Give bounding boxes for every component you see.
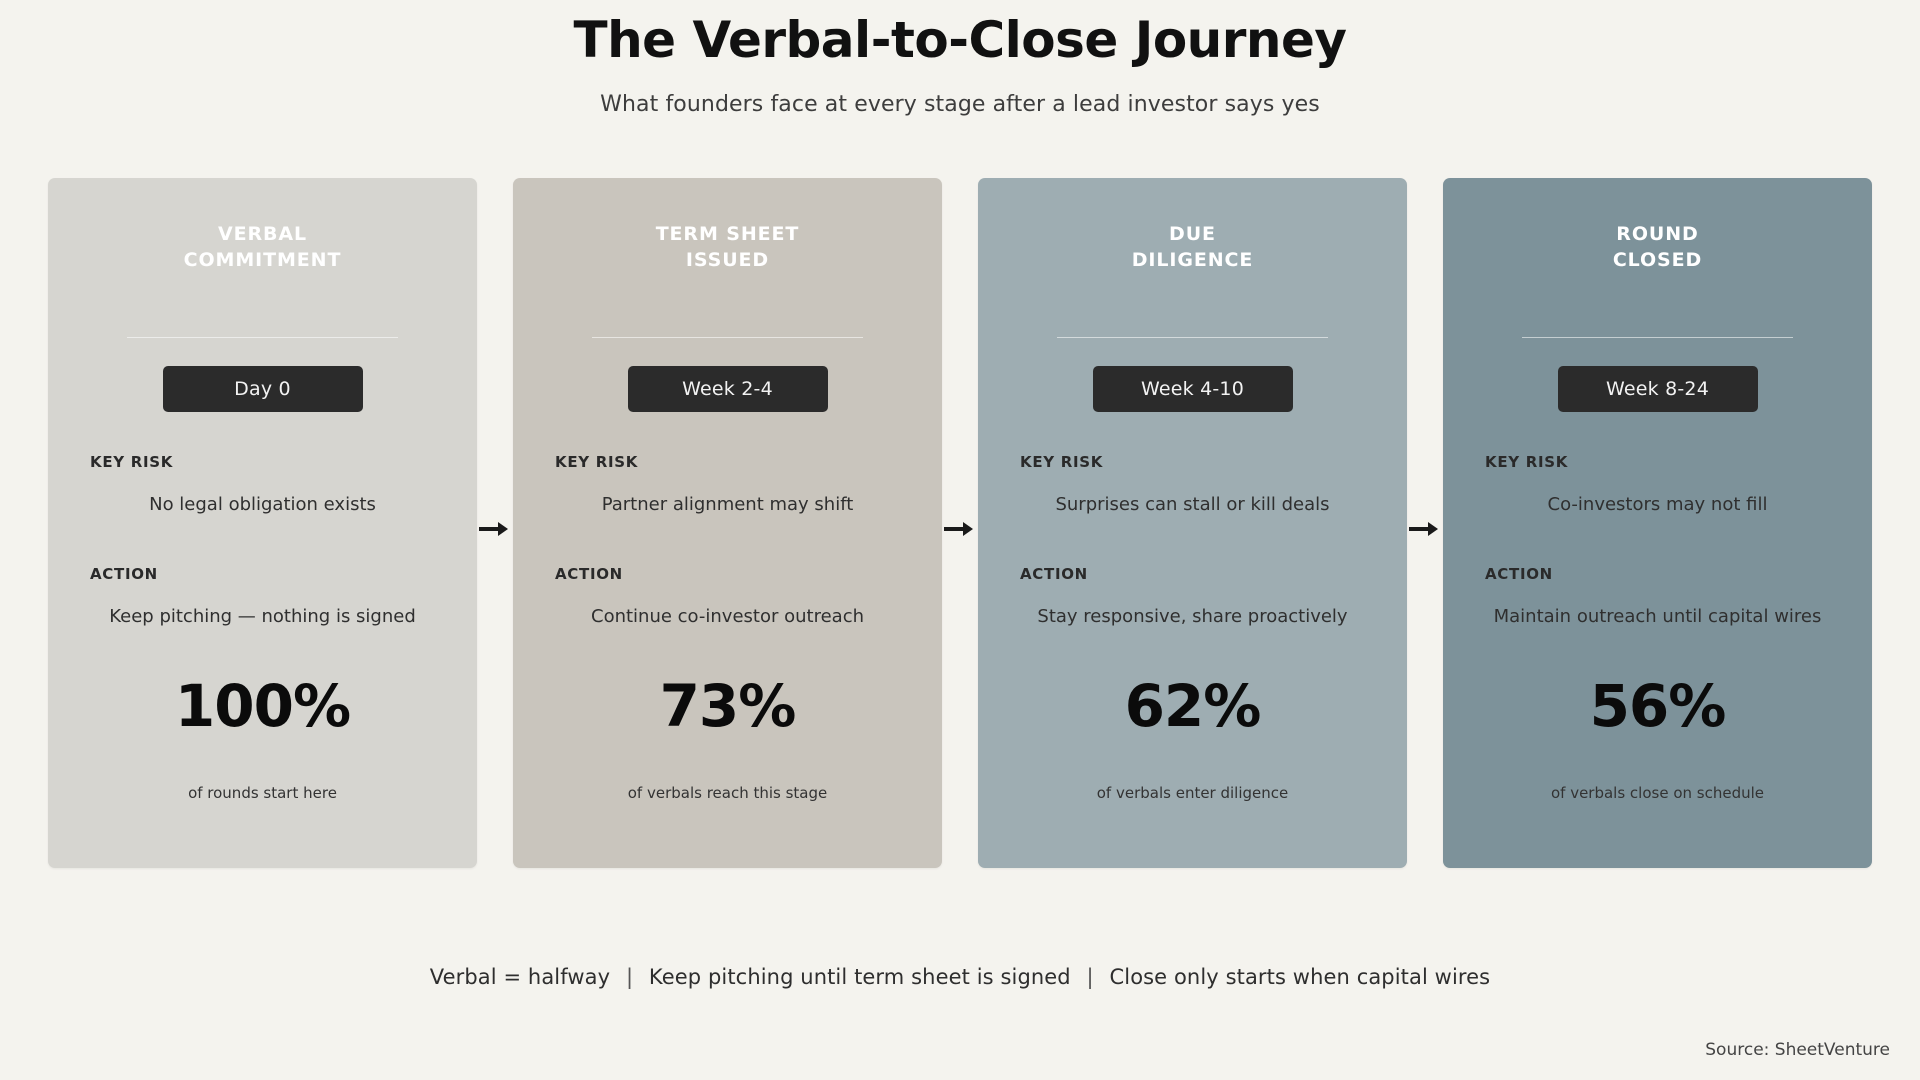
stage-wrapper-2: TERM SHEET ISSUED Week 2-4 KEY RISK Part… [495,178,960,868]
stage-divider [1057,337,1328,338]
page-title: The Verbal-to-Close Journey [0,12,1920,70]
stage-percentage-caption: of verbals enter diligence [1097,784,1289,802]
stage-percentage-caption: of verbals close on schedule [1551,784,1764,802]
stage-time-badge: Week 8-24 [1558,366,1758,412]
stage-percentage: 62% [1125,677,1261,735]
action-label: ACTION [555,565,623,583]
action-value: Stay responsive, share proactively [1037,605,1347,629]
stage-divider [1522,337,1793,338]
stage-row: VERBAL COMMITMENT Day 0 KEY RISK No lega… [30,178,1890,868]
stage-card-round-closed[interactable]: ROUND CLOSED Week 8-24 KEY RISK Co-inves… [1443,178,1872,868]
stage-percentage-caption: of rounds start here [188,784,337,802]
footer-note-2: Keep pitching until term sheet is signed [649,965,1071,989]
key-risk-value: No legal obligation exists [149,493,376,517]
stage-title: TERM SHEET ISSUED [656,222,800,273]
stage-card-term-sheet-issued[interactable]: TERM SHEET ISSUED Week 2-4 KEY RISK Part… [513,178,942,868]
stage-title: DUE DILIGENCE [1132,222,1254,273]
key-risk-value: Surprises can stall or kill deals [1055,493,1329,517]
stage-title: VERBAL COMMITMENT [184,222,342,273]
key-risk-label: KEY RISK [1485,453,1568,471]
stage-card-due-diligence[interactable]: DUE DILIGENCE Week 4-10 KEY RISK Surpris… [978,178,1407,868]
stage-wrapper-3: DUE DILIGENCE Week 4-10 KEY RISK Surpris… [960,178,1425,868]
stage-time-badge: Week 4-10 [1093,366,1293,412]
key-risk-label: KEY RISK [1020,453,1103,471]
action-label: ACTION [1020,565,1088,583]
source-attribution: Source: SheetVenture [1705,1040,1890,1060]
stage-divider [127,337,398,338]
footer-separator-2: | [1078,965,1103,989]
infographic-page: The Verbal-to-Close Journey What founder… [0,0,1920,1080]
action-value: Keep pitching — nothing is signed [109,605,416,629]
footer-separator-1: | [617,965,642,989]
action-label: ACTION [1485,565,1553,583]
stage-percentage: 100% [175,677,350,735]
stage-percentage: 56% [1590,677,1726,735]
stage-percentage-caption: of verbals reach this stage [628,784,828,802]
key-risk-label: KEY RISK [90,453,173,471]
key-risk-value: Partner alignment may shift [602,493,854,517]
footer-note: Verbal = halfway | Keep pitching until t… [0,965,1920,989]
stage-percentage: 73% [660,677,796,735]
stage-time-badge: Week 2-4 [628,366,828,412]
stage-wrapper-4: ROUND CLOSED Week 8-24 KEY RISK Co-inves… [1425,178,1890,868]
action-value: Maintain outreach until capital wires [1494,605,1822,629]
stage-wrapper-1: VERBAL COMMITMENT Day 0 KEY RISK No lega… [30,178,495,868]
header: The Verbal-to-Close Journey What founder… [0,0,1920,117]
stage-card-verbal-commitment[interactable]: VERBAL COMMITMENT Day 0 KEY RISK No lega… [48,178,477,868]
stage-title: ROUND CLOSED [1613,222,1702,273]
footer-note-1: Verbal = halfway [430,965,610,989]
action-label: ACTION [90,565,158,583]
action-value: Continue co-investor outreach [591,605,864,629]
footer-note-3: Close only starts when capital wires [1110,965,1491,989]
page-subtitle: What founders face at every stage after … [0,92,1920,117]
stage-time-badge: Day 0 [163,366,363,412]
key-risk-value: Co-investors may not fill [1548,493,1768,517]
stage-divider [592,337,863,338]
key-risk-label: KEY RISK [555,453,638,471]
